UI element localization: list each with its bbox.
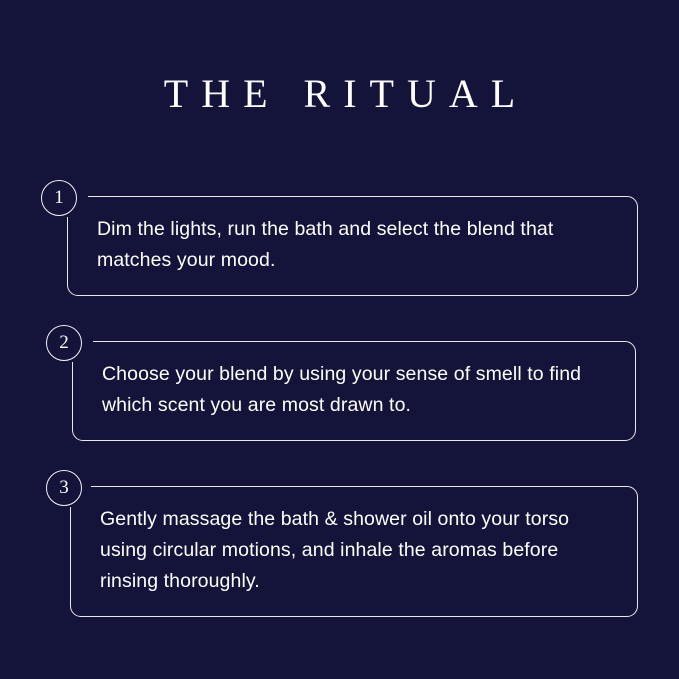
step-number: 1 [54,188,64,207]
ritual-instructions-poster: THE RITUAL Dim the lights, run the bath … [0,0,679,679]
step-text-box: Gently massage the bath & shower oil ont… [70,486,638,617]
step-number: 2 [59,333,69,352]
page-title: THE RITUAL [0,74,679,114]
step-text-box: Choose your blend by using your sense of… [72,341,636,441]
step-number-badge: 1 [41,180,77,216]
step-text-box: Dim the lights, run the bath and select … [67,196,638,296]
step-item: Choose your blend by using your sense of… [0,341,679,441]
step-number-badge: 3 [46,470,82,506]
step-text: Dim the lights, run the bath and select … [97,214,617,276]
step-text: Choose your blend by using your sense of… [102,359,615,421]
step-text: Gently massage the bath & shower oil ont… [100,504,617,597]
step-number-badge: 2 [46,325,82,361]
step-item: Dim the lights, run the bath and select … [0,196,679,296]
step-number: 3 [59,478,69,497]
steps-list: Dim the lights, run the bath and select … [0,196,679,617]
step-item: Gently massage the bath & shower oil ont… [0,486,679,617]
